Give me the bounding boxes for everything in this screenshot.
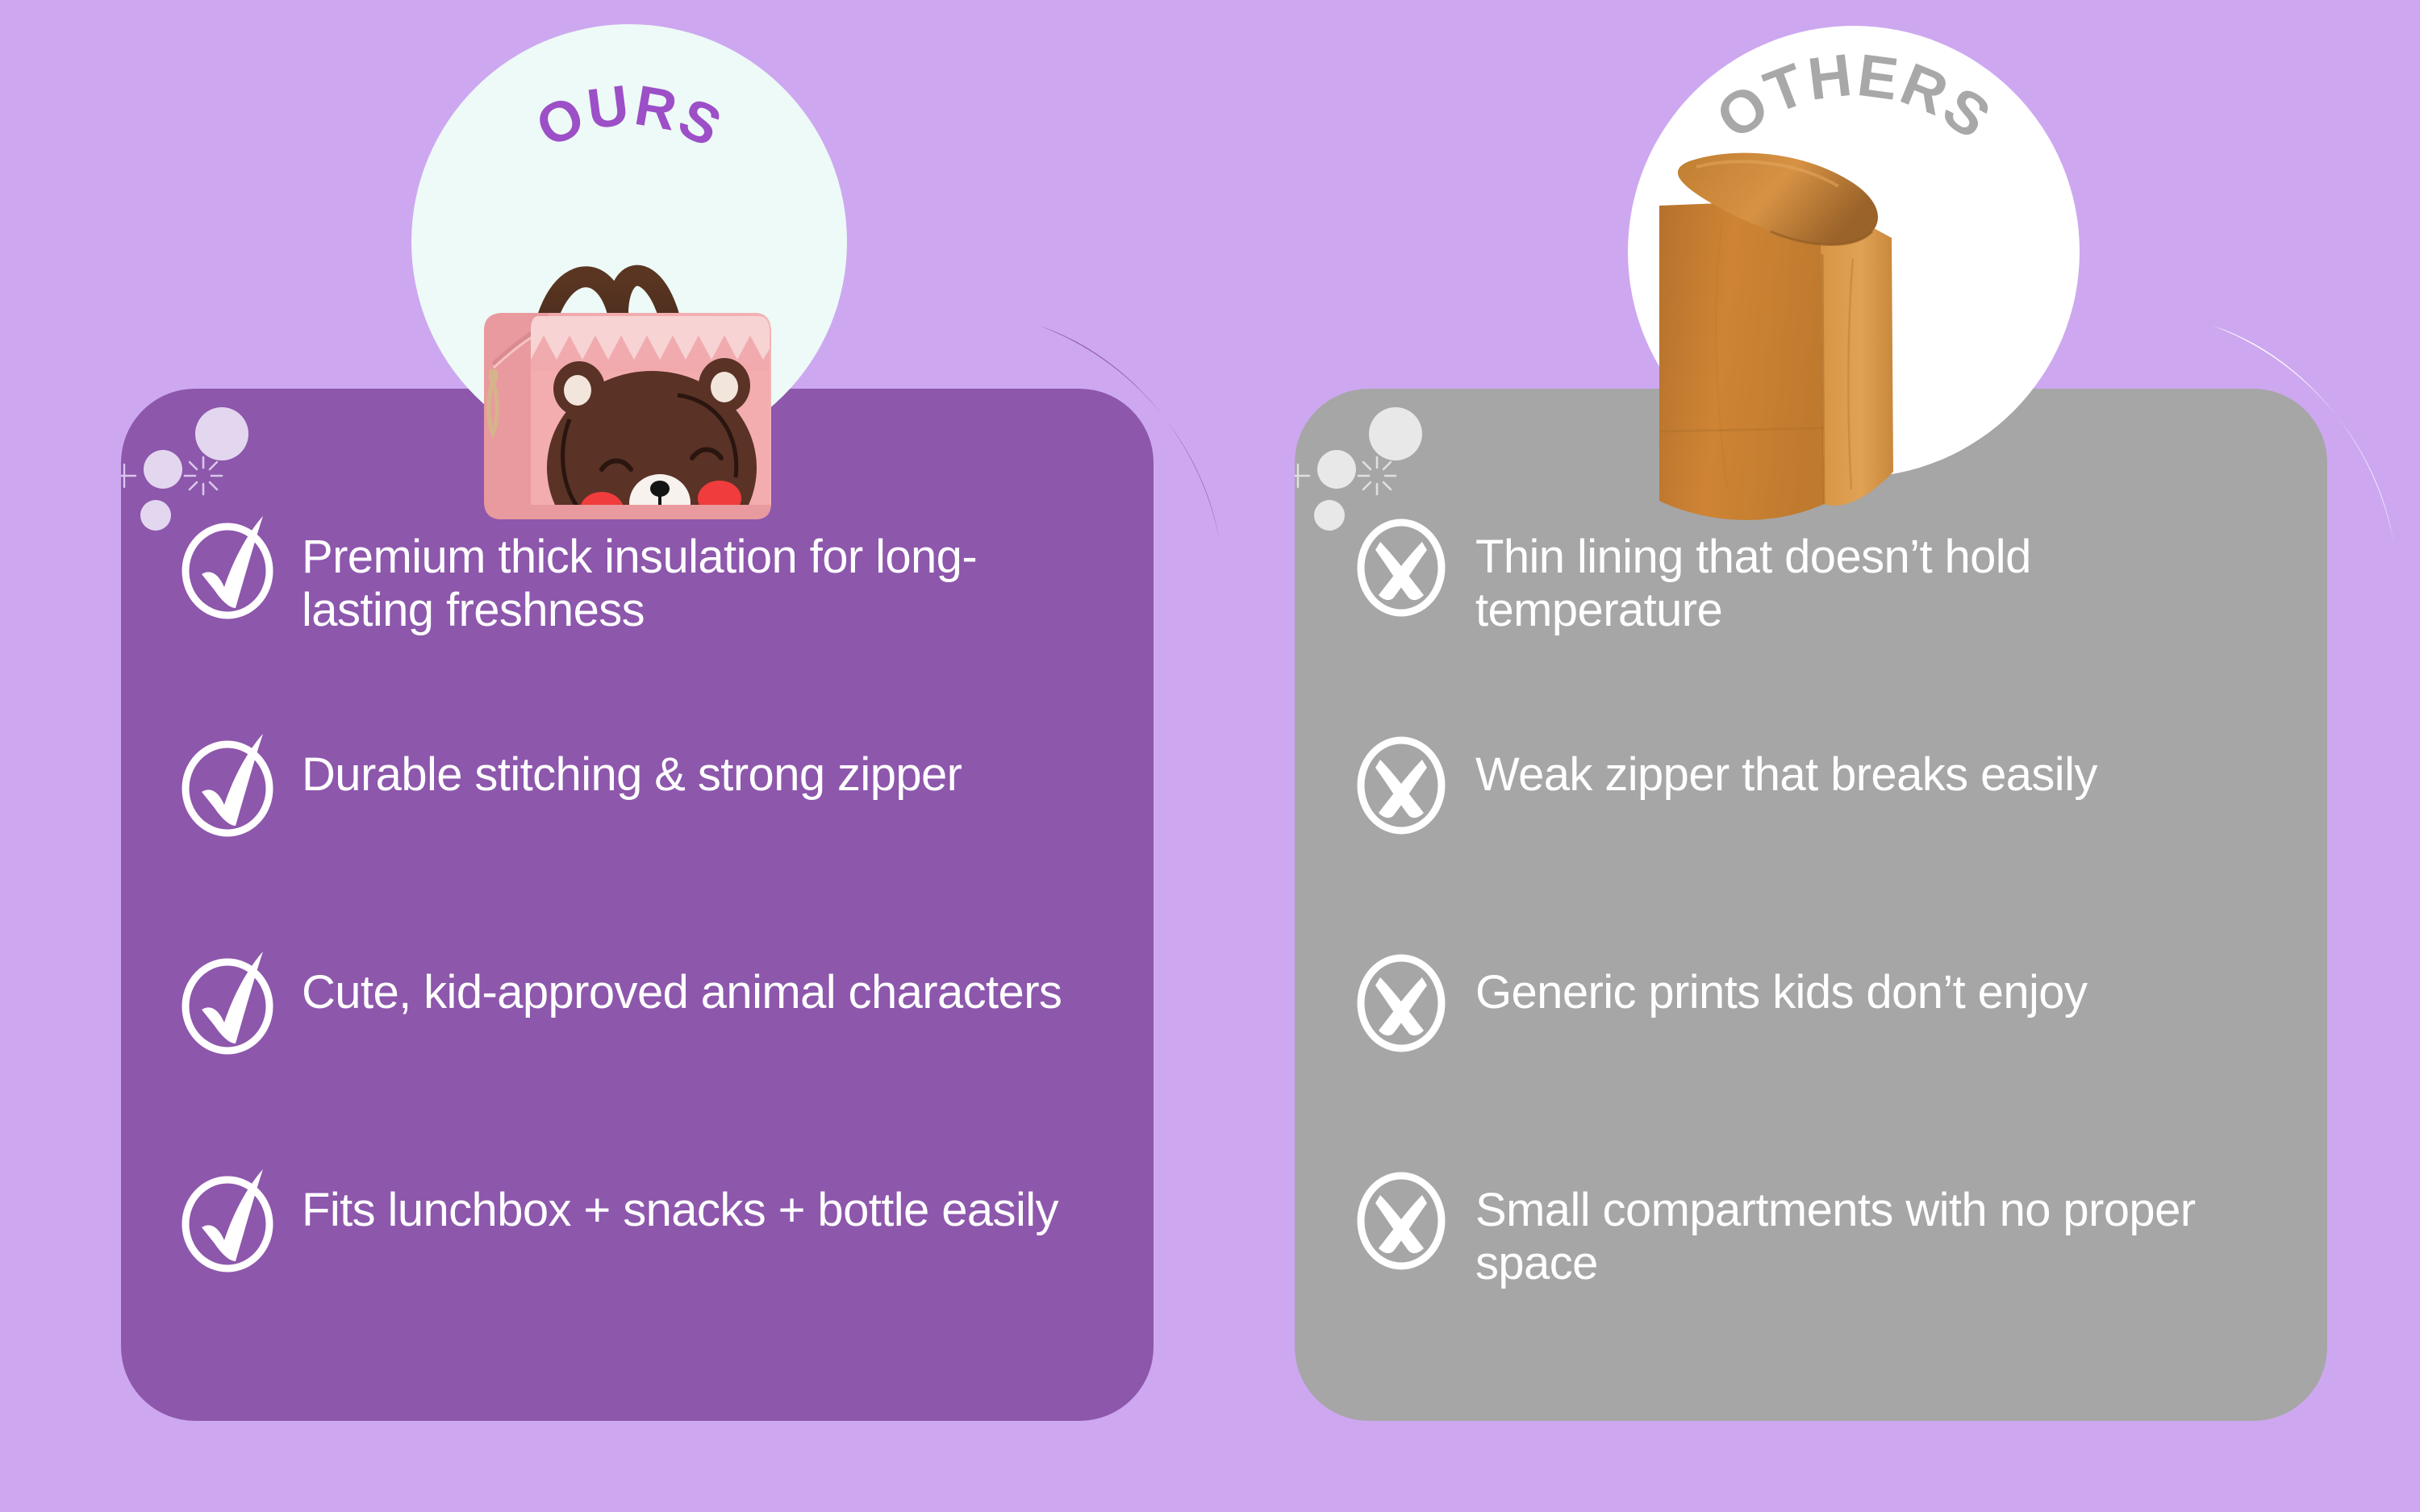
- ours-badge-circle: OURS: [411, 24, 847, 460]
- others-feature-list: Thin lining that doesn’t hold temperatur…: [1295, 389, 2327, 1397]
- feature-label: Generic prints kids don’t enjoy: [1475, 961, 2279, 1019]
- others-badge-label-arc: OTHERS: [1628, 26, 2080, 477]
- feature-label: Fits lunchbox + snacks + bottle easily: [302, 1179, 1100, 1237]
- others-badge-circle: OTHERS: [1628, 26, 2080, 477]
- feature-label: Small compartments with no proper space: [1475, 1179, 2279, 1290]
- feature-row: Thin lining that doesn’t hold temperatur…: [1351, 526, 2279, 744]
- cross-circle-icon: [1351, 1166, 1458, 1272]
- svg-text:OTHERS: OTHERS: [1704, 41, 2005, 152]
- svg-text:OURS: OURS: [527, 73, 732, 160]
- check-circle-icon: [177, 513, 284, 619]
- others-panel: Thin lining that doesn’t hold temperatur…: [1295, 389, 2327, 1421]
- ours-badge-label: OURS: [527, 73, 732, 160]
- feature-label: Thin lining that doesn’t hold temperatur…: [1475, 526, 2279, 637]
- feature-row: Cute, kid-approved animal characters: [177, 961, 1105, 1179]
- feature-label: Premium thick insulation for long-lastin…: [302, 526, 1100, 637]
- feature-row: Small compartments with no proper space: [1351, 1179, 2279, 1397]
- check-circle-icon: [177, 731, 284, 837]
- check-circle-icon: [177, 948, 284, 1055]
- others-badge-label: OTHERS: [1704, 41, 2005, 152]
- cross-circle-icon: [1351, 948, 1458, 1055]
- feature-row: Durable stitching & strong zipper: [177, 744, 1105, 961]
- comparison-infographic: Premium thick insulation for long-lastin…: [0, 0, 2420, 1512]
- ours-feature-list: Premium thick insulation for long-lastin…: [121, 389, 1154, 1397]
- feature-row: Weak zipper that breaks easily: [1351, 744, 2279, 961]
- feature-label: Weak zipper that breaks easily: [1475, 744, 2279, 802]
- feature-label: Cute, kid-approved animal characters: [302, 961, 1100, 1019]
- feature-row: Generic prints kids don’t enjoy: [1351, 961, 2279, 1179]
- feature-row: Premium thick insulation for long-lastin…: [177, 526, 1105, 744]
- check-circle-icon: [177, 1166, 284, 1272]
- ours-panel: Premium thick insulation for long-lastin…: [121, 389, 1154, 1421]
- feature-label: Durable stitching & strong zipper: [302, 744, 1100, 802]
- ours-badge-label-arc: OURS: [411, 24, 847, 460]
- cross-circle-icon: [1351, 513, 1458, 619]
- feature-row: Fits lunchbox + snacks + bottle easily: [177, 1179, 1105, 1397]
- cross-circle-icon: [1351, 731, 1458, 837]
